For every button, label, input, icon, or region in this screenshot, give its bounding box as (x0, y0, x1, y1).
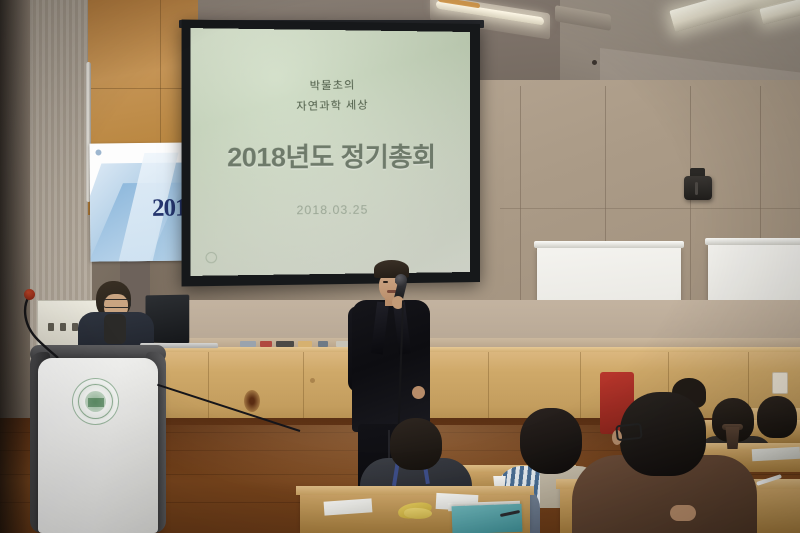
slide-date: 2018.03.25 (191, 202, 470, 218)
glasses-icon (615, 423, 643, 442)
slide-main-title: 2018년도 정기총회 (191, 137, 470, 175)
left-shadow-overlay (0, 0, 34, 533)
projection-screen: 박물초의 자연과학 세상 2018년도 정기총회 2018.03.25 (191, 28, 470, 276)
mic-capsule-icon (395, 274, 407, 286)
cabinet-stain (244, 390, 260, 412)
banner-logo-icon (95, 149, 101, 155)
glasses-icon (103, 299, 131, 308)
institution-seal-icon (72, 378, 119, 425)
audience-head (520, 408, 582, 474)
desk-surface (296, 486, 534, 495)
slide-handwritten-line2: 자연과학 세상 (191, 94, 470, 116)
presenter-right-hand (412, 386, 425, 399)
wall-outlet-icon[interactable] (772, 372, 788, 394)
audience-head (390, 418, 442, 470)
presenter-torso (352, 300, 430, 432)
operator-shirt (104, 314, 126, 344)
presenter-eye (383, 281, 388, 283)
cabinet-mark (310, 378, 315, 383)
slide-corner-logo-icon (205, 252, 217, 263)
slide-handwritten-line1: 박물초의 (191, 74, 470, 95)
audience-head (757, 396, 797, 438)
ceiling-sensor-icon (592, 60, 597, 65)
audience-hand (670, 505, 696, 521)
wall-seam (500, 208, 800, 209)
notebook (752, 447, 800, 461)
wall-speaker-icon (684, 176, 712, 200)
lecture-hall-photo: 201 박물초의 자연과학 세상 2018년도 정기총회 2018.03.25 (0, 0, 800, 533)
teal-booklet (452, 504, 523, 533)
